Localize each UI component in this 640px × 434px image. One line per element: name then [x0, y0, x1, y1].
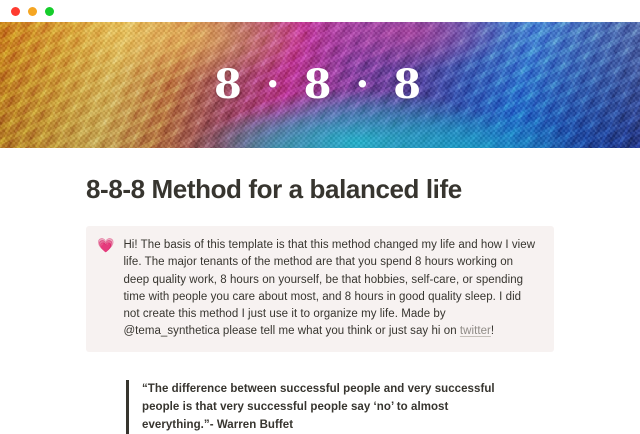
close-window-button[interactable]	[11, 7, 20, 16]
maximize-window-button[interactable]	[45, 7, 54, 16]
page-title: 8-8-8 Method for a balanced life	[86, 148, 554, 205]
callout-text-before-link: Hi! The basis of this template is that t…	[123, 239, 535, 337]
growing-heart-emoji: 💗	[97, 237, 114, 254]
window-title-bar	[0, 0, 640, 22]
minimize-window-button[interactable]	[28, 7, 37, 16]
callout-text: Hi! The basis of this template is that t…	[123, 237, 540, 340]
callout-block: 💗 Hi! The basis of this template is that…	[86, 226, 554, 352]
page-content: 8-8-8 Method for a balanced life 💗 Hi! T…	[0, 148, 640, 434]
quote-block: “The difference between successful peopl…	[126, 380, 514, 434]
cover-logo-text: 8 · 8 · 8	[0, 65, 640, 105]
traffic-light-controls	[11, 7, 54, 16]
twitter-link[interactable]: twitter	[460, 325, 491, 337]
callout-text-after-link: !	[491, 325, 494, 337]
cover-image-banner[interactable]: 8 · 8 · 8	[0, 22, 640, 148]
